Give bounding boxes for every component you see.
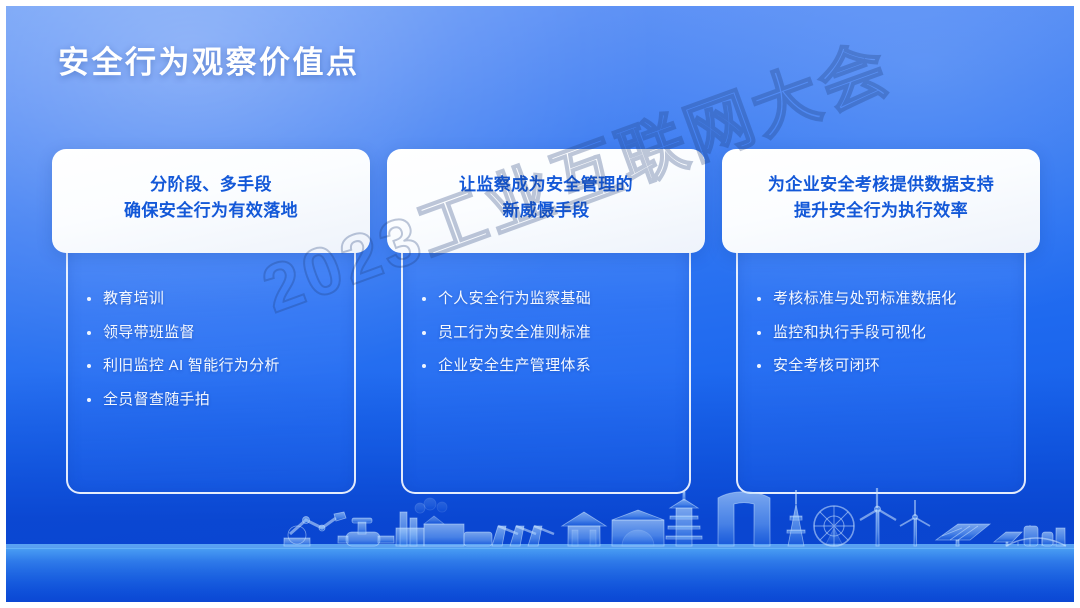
value-point-card-2[interactable]: 个人安全行为监察基础 员工行为安全准则标准 企业安全生产管理体系 让监察成为安全… — [387, 149, 705, 494]
card-heading-text: 分阶段、多手段 确保安全行为有效落地 — [124, 172, 298, 224]
value-point-card-1[interactable]: 教育培训 领导带班监督 利旧监控 AI 智能行为分析 全员督查随手拍 分阶段、多… — [52, 149, 370, 494]
list-item: 企业安全生产管理体系 — [421, 356, 687, 377]
card-bullet-list-1: 教育培训 领导带班监督 利旧监控 AI 智能行为分析 全员督查随手拍 — [86, 289, 352, 424]
card-heading-text: 为企业安全考核提供数据支持 提升安全行为执行效率 — [768, 172, 994, 224]
list-item: 个人安全行为监察基础 — [421, 289, 687, 310]
list-item: 领导带班监督 — [86, 323, 352, 344]
card-header-3: 为企业安全考核提供数据支持 提升安全行为执行效率 — [722, 149, 1040, 253]
card-bullet-list-3: 考核标准与处罚标准数据化 监控和执行手段可视化 安全考核可闭环 — [756, 289, 1022, 390]
slide-canvas: 安全行为观察价值点 教育培训 领导带班监督 利旧监控 AI 智能行为分析 全员督… — [0, 0, 1080, 608]
list-item: 全员督查随手拍 — [86, 390, 352, 411]
value-point-card-3[interactable]: 考核标准与处罚标准数据化 监控和执行手段可视化 安全考核可闭环 为企业安全考核提… — [722, 149, 1040, 494]
card-header-1: 分阶段、多手段 确保安全行为有效落地 — [52, 149, 370, 253]
list-item: 教育培训 — [86, 289, 352, 310]
list-item: 安全考核可闭环 — [756, 356, 1022, 377]
value-points-card-row: 教育培训 领导带班监督 利旧监控 AI 智能行为分析 全员督查随手拍 分阶段、多… — [52, 149, 1040, 494]
card-bullet-list-2: 个人安全行为监察基础 员工行为安全准则标准 企业安全生产管理体系 — [421, 289, 687, 390]
list-item: 利旧监控 AI 智能行为分析 — [86, 356, 352, 377]
list-item: 监控和执行手段可视化 — [756, 323, 1022, 344]
page-title: 安全行为观察价值点 — [58, 44, 360, 81]
list-item: 员工行为安全准则标准 — [421, 323, 687, 344]
card-heading-text: 让监察成为安全管理的 新威慑手段 — [459, 172, 633, 224]
list-item: 考核标准与处罚标准数据化 — [756, 289, 1022, 310]
card-header-2: 让监察成为安全管理的 新威慑手段 — [387, 149, 705, 253]
